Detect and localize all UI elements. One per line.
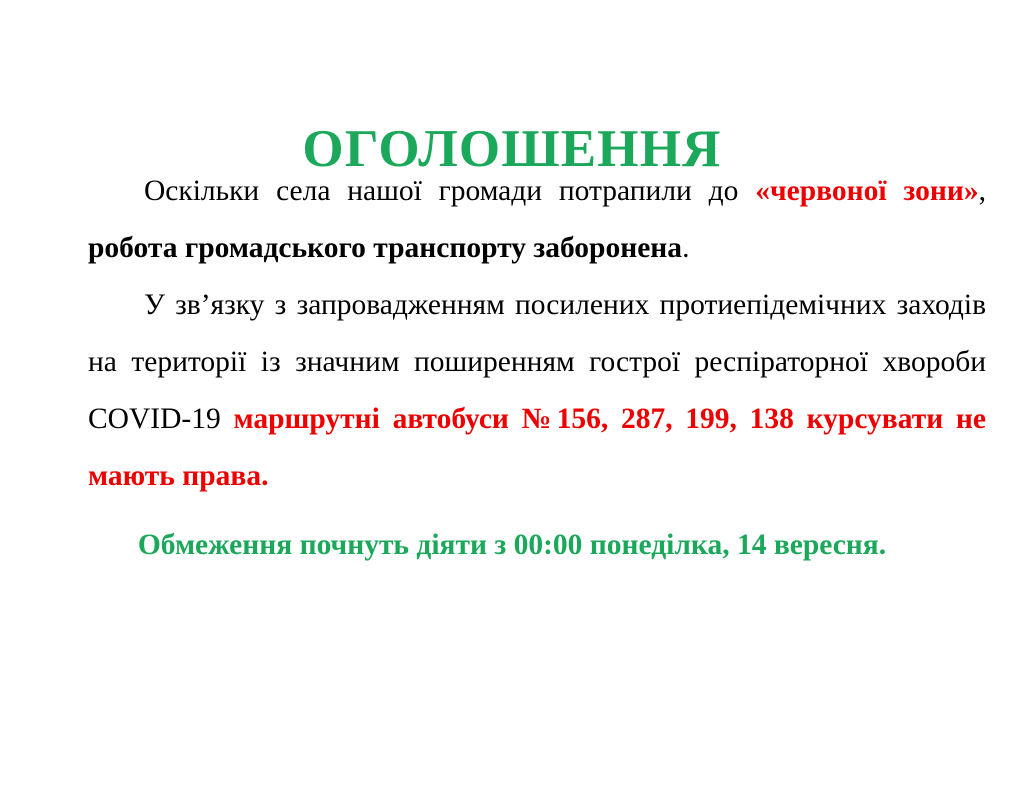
- paragraph-red-zone: Оскільки села нашої громади потрапили до…: [88, 163, 986, 277]
- announcement-page: ОГОЛОШЕННЯ Оскільки села нашої громади п…: [0, 0, 1024, 792]
- paragraph-1-bold-statement: робота громадського транспорту заборонен…: [88, 232, 682, 264]
- paragraph-bus-routes: У зв’язку з запровадженням посилених про…: [88, 277, 986, 505]
- paragraph-1-red-emphasis: «червоної зони»: [755, 175, 978, 207]
- paragraph-1-comma: ,: [979, 175, 986, 207]
- announcement-body: Оскільки села нашої громади потрапили до…: [88, 163, 986, 505]
- paragraph-1-lead-text: Оскільки села нашої громади потрапили до: [144, 175, 755, 207]
- paragraph-1-final-period: .: [682, 232, 689, 264]
- closing-effective-date-line: Обмеження почнуть діяти з 00:00 понеділк…: [0, 520, 1024, 570]
